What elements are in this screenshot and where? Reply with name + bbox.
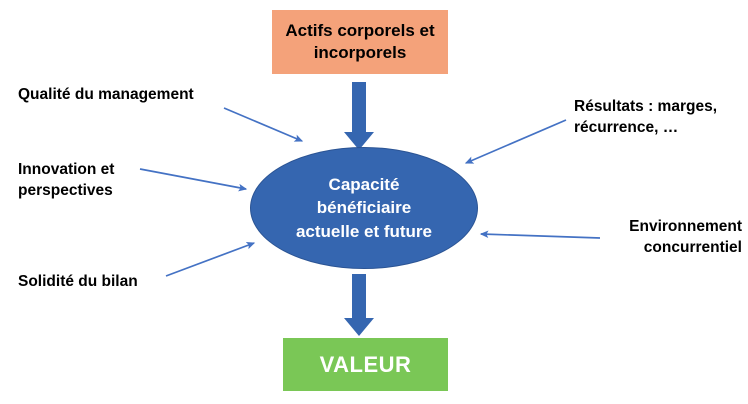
node-capacite-line-2: bénéficiaire <box>296 196 432 219</box>
label-qualite-du-management: Qualité du management <box>18 84 194 105</box>
diagram-canvas: Actifs corporels et incorporels Capacité… <box>0 0 748 404</box>
label-solidite-du-bilan: Solidité du bilan <box>18 271 138 292</box>
label-environnement-concurrentiel: Environnement concurrentiel <box>566 216 742 259</box>
node-valeur[interactable]: VALEUR <box>283 338 448 391</box>
arrow-actifs-to-center-icon <box>344 82 374 150</box>
arrow-solidite-to-center-icon <box>166 243 254 276</box>
node-actifs-corporels-incorporels[interactable]: Actifs corporels et incorporels <box>272 10 448 74</box>
node-capacite-line-3: actuelle et future <box>296 220 432 243</box>
node-capacite-line-1: Capacité <box>296 173 432 196</box>
node-capacite-label: Capacité bénéficiaire actuelle et future <box>296 173 432 242</box>
arrow-qualite-to-center-icon <box>224 108 302 141</box>
node-actifs-label: Actifs corporels et incorporels <box>280 20 440 65</box>
node-capacite-beneficiaire[interactable]: Capacité bénéficiaire actuelle et future <box>250 147 478 269</box>
arrow-innovation-to-center-icon <box>140 169 246 189</box>
arrow-resultats-to-center-icon <box>466 120 566 163</box>
node-valeur-label: VALEUR <box>320 350 412 379</box>
arrow-center-to-valeur-icon <box>344 274 374 336</box>
label-resultats-marges-recurrence: Résultats : marges, récurrence, … <box>574 96 742 139</box>
label-innovation-et-perspectives: Innovation et perspectives <box>18 159 114 202</box>
